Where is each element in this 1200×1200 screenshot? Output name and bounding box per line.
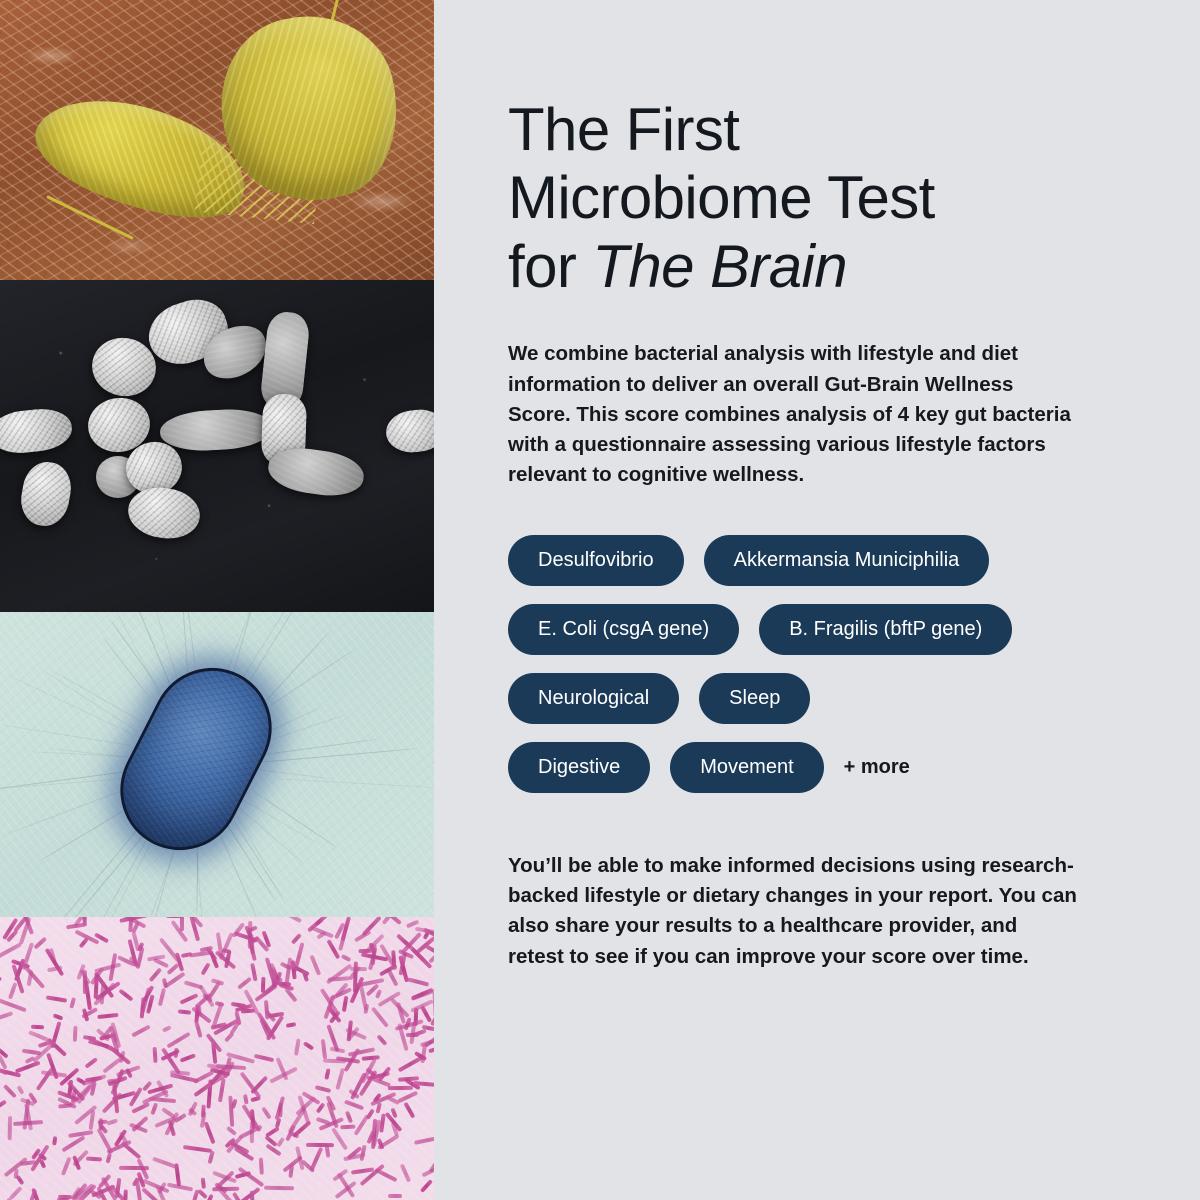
bacteria-rod [226, 1125, 237, 1135]
bacteria-rod [158, 988, 166, 1006]
bacteria-rod [0, 1012, 13, 1022]
bacteria-rod [261, 1107, 271, 1120]
bacteria-rod [365, 1108, 374, 1119]
bacteria-rod [0, 1100, 7, 1111]
bacteria-rod [31, 1025, 45, 1030]
flagellum-icon [6, 673, 150, 742]
bacteria-rod [61, 1157, 71, 1176]
bacteria-rod [166, 1032, 190, 1049]
flagellum-icon [44, 670, 139, 732]
bacteria-rod [224, 1032, 234, 1043]
bacteria-rod [179, 993, 198, 1005]
bacteria-rod [388, 1086, 413, 1090]
bacteria-cell [159, 407, 273, 453]
bacteria-rod [376, 1034, 387, 1045]
flagellum-icon [250, 789, 338, 849]
bacteria-rod [420, 1179, 433, 1193]
bacteria-rod [258, 1157, 263, 1174]
pill-digestive[interactable]: Digestive [508, 742, 650, 793]
bacteria-rod [407, 977, 430, 986]
bacteria-rod [66, 922, 86, 929]
bacteria-rod [424, 1036, 434, 1047]
intro-paragraph: We combine bacterial analysis with lifes… [508, 339, 1078, 491]
bacteria-rod [167, 1183, 193, 1192]
micrograph-grayscale-bacteria-cluster [0, 280, 434, 612]
bacteria-rod [294, 1038, 301, 1055]
bacteria-rod [46, 995, 67, 1002]
bacteria-rod [341, 954, 351, 962]
flagellum-icon [246, 748, 419, 764]
flagellum-icon [0, 724, 140, 748]
pill-movement[interactable]: Movement [670, 742, 823, 793]
bacteria-rod [131, 1024, 150, 1037]
bacteria-rod [149, 967, 163, 982]
flagellum-icon [233, 794, 319, 845]
bacteria-rod [404, 1102, 416, 1118]
bacteria-cell [17, 458, 75, 529]
bacteria-rod [237, 977, 252, 990]
pill-e-coli-csga-gene[interactable]: E. Coli (csgA gene) [508, 604, 739, 655]
bacteria-rod [9, 1186, 23, 1200]
bacteria-rod [170, 920, 188, 942]
flagellum-icon [46, 195, 134, 240]
bacteria-rod [208, 1151, 215, 1164]
bacteria-rod [52, 1136, 57, 1146]
bacteria-cell [384, 407, 434, 455]
headline-line-3-prefix: for [508, 233, 592, 300]
pill-row-bacteria-2: E. Coli (csgA gene) B. Fragilis (bftP ge… [508, 604, 1126, 655]
bacteria-rod [183, 980, 202, 989]
outro-paragraph: You’ll be able to make informed decision… [508, 851, 1078, 972]
page-title: The First Microbiome Test for The Brain [508, 96, 1068, 301]
micrograph-blue-flagellated-bacterium [0, 612, 434, 917]
flagellum-icon [249, 768, 334, 780]
bacteria-rod [178, 1009, 192, 1015]
flagellum-icon [233, 802, 303, 863]
bacteria-rod [265, 1127, 280, 1138]
bacteria-rod [243, 1094, 249, 1104]
micrograph-strip [0, 0, 434, 1200]
bacteria-rod [150, 1102, 158, 1115]
bacteria-rod [83, 1035, 97, 1041]
bacteria-rod [275, 1118, 282, 1129]
bacteria-rod [197, 1189, 208, 1199]
bacteria-rod [0, 998, 27, 1013]
pill-row-bacteria-1: Desulfovibrio Akkermansia Municiphilia [508, 535, 1126, 586]
bacteria-rod [70, 997, 77, 1009]
flagellum-icon [230, 805, 274, 880]
bacteria-rod [314, 1085, 330, 1093]
bacteria-rod [118, 989, 133, 1002]
bacteria-rod [201, 1178, 206, 1189]
bacteria-rod [152, 1047, 157, 1063]
bacteria-cell [125, 483, 203, 543]
bacteria-rod [53, 1013, 64, 1020]
bacteria-rod [149, 1097, 177, 1103]
headline-line-2: Microbiome Test [508, 164, 935, 231]
bacteria-rod [324, 1068, 330, 1080]
pill-sleep[interactable]: Sleep [699, 673, 810, 724]
bacteria-rod [106, 1119, 118, 1126]
bacteria-rod [375, 989, 382, 999]
bacteria-rod [391, 950, 396, 968]
bacteria-rod [251, 1096, 261, 1102]
bacteria-rod [344, 1099, 364, 1110]
bacteria-rod [16, 1085, 24, 1095]
flagellum-icon [96, 828, 154, 917]
bacteria-rod [248, 921, 253, 949]
bacterial-filament-overlay [195, 142, 322, 224]
bacteria-rod [84, 1057, 98, 1069]
bacteria-rod [388, 1194, 402, 1198]
bacteria-cell [0, 406, 74, 456]
pill-group: Desulfovibrio Akkermansia Municiphilia E… [508, 535, 1126, 793]
pill-row-lifestyle-2: Digestive Movement + more [508, 742, 1126, 793]
bacteria-rod [335, 1067, 345, 1090]
bacteria-rod [397, 1091, 418, 1104]
pill-row-lifestyle-1: Neurological Sleep [508, 673, 1126, 724]
bacteria-rod [288, 1163, 294, 1178]
bacteria-rod [309, 954, 321, 975]
bacteria-rod [86, 1156, 102, 1161]
bacteria-rod [241, 1008, 255, 1013]
bacteria-rod [8, 982, 18, 1000]
flagellum-icon [323, 0, 340, 52]
bacteria-rod [204, 1122, 216, 1145]
gram-stain-rods-overlay [0, 917, 434, 1200]
headline-line-1: The First [508, 96, 739, 163]
bacteria-rod [303, 1041, 315, 1051]
more-label: + more [844, 756, 910, 779]
bacteria-rod [314, 917, 324, 926]
bacteria-rod [340, 1124, 356, 1129]
pill-desulfovibrio[interactable]: Desulfovibrio [508, 535, 684, 586]
bacteria-rod [414, 1135, 434, 1145]
bacteria-rod [0, 942, 22, 959]
bacteria-rod [323, 1059, 346, 1064]
bacteria-rod [254, 1054, 274, 1062]
bacteria-rod [97, 1013, 119, 1019]
bacteria-rod [400, 1163, 411, 1182]
flagellum-icon [257, 648, 356, 715]
bacteria-rod [21, 963, 44, 989]
bacteria-rod [183, 1145, 213, 1153]
bacteria-rod [7, 1116, 11, 1140]
bacteria-rod [330, 1046, 345, 1053]
bacteria-rod [28, 1030, 49, 1042]
bacteria-rod [106, 1153, 112, 1163]
bacteria-rod [345, 1110, 353, 1123]
bacteria-rod [131, 1102, 150, 1114]
bacteria-rod [371, 1006, 389, 1027]
bacteria-cell [265, 444, 366, 501]
bacteria-rod [98, 1119, 108, 1124]
bacteria-rod [180, 1054, 196, 1063]
bacteria-rod [194, 1020, 202, 1037]
headline-emphasis: The Brain [592, 233, 847, 300]
bacteria-rod [341, 996, 348, 1013]
bacteria-rod [264, 1186, 295, 1191]
bacteria-rod [361, 1056, 379, 1061]
bacteria-rod [201, 1104, 206, 1117]
flagellum-icon [234, 822, 285, 902]
bacteria-rod [424, 944, 434, 956]
bacteria-rod [61, 1135, 86, 1152]
bacteria-rod [206, 981, 221, 1001]
bacteria-rod [161, 1025, 171, 1033]
bacteria-rod [174, 1163, 181, 1187]
pill-b-fragilis-bftp-gene[interactable]: B. Fragilis (bftP gene) [759, 604, 1012, 655]
bacteria-rod [285, 1022, 296, 1028]
bacteria-rod [33, 936, 47, 949]
content-panel: The First Microbiome Test for The Brain … [434, 0, 1200, 1200]
bacteria-rod [287, 917, 301, 923]
micrograph-pink-gram-stain-rods [0, 917, 434, 1200]
bacteria-rod [0, 972, 3, 981]
pill-neurological[interactable]: Neurological [508, 673, 679, 724]
bacteria-rod [72, 1026, 77, 1043]
bacteria-rod [200, 963, 210, 976]
bacteria-rod [173, 1047, 178, 1058]
promo-card: The First Microbiome Test for The Brain … [0, 0, 1200, 1200]
bacteria-rod [277, 1137, 285, 1147]
bacteria-rod [3, 1084, 17, 1098]
flagellum-icon [270, 778, 434, 789]
pill-akkermansia-municiphilia[interactable]: Akkermansia Municiphilia [704, 535, 990, 586]
bacteria-rod [321, 1039, 327, 1059]
bacteria-rod [249, 1191, 254, 1200]
micrograph-yellow-rod-bacterium [0, 0, 434, 280]
